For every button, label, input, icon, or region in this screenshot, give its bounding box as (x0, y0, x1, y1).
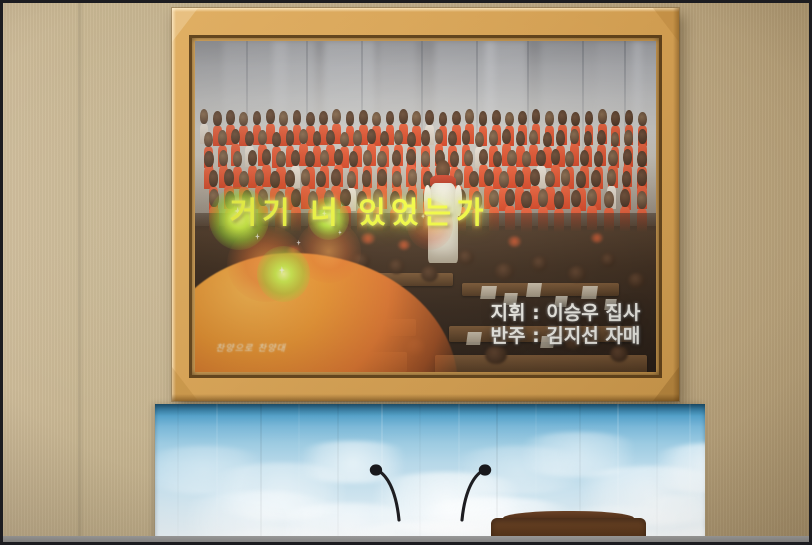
projection-screen: 거기 너 있었는가 지휘 : 이승우 집사 반주 : 김지선 자매 찬양으로 찬… (195, 41, 656, 372)
choir-member-head (346, 111, 355, 126)
choir-member-head (372, 112, 381, 127)
choir-member-head (530, 169, 540, 186)
choir-member-head (479, 111, 488, 126)
conductor-credit-line: 지휘 : 이승우 집사 (491, 302, 641, 326)
choir-member-head (392, 150, 401, 166)
seated-figure (389, 259, 405, 274)
sheet-music (480, 286, 497, 299)
accompanist-credit-line: 반주 : 김지선 자매 (491, 325, 641, 349)
banner-fold (216, 404, 218, 545)
choir-member-head (270, 171, 280, 188)
choir-member-head (266, 109, 275, 124)
choir-member-head (363, 150, 372, 166)
choir-member-head (248, 150, 257, 166)
choir-member-head (532, 109, 541, 124)
choir-member-head (377, 151, 386, 167)
choir-member-head (407, 132, 416, 147)
choir-member-head (233, 151, 242, 167)
banner-fold (689, 404, 691, 545)
choir-member-head (226, 110, 235, 125)
choir-member-head (204, 151, 213, 167)
choir-member-head (213, 111, 222, 126)
banner-fold (177, 404, 179, 545)
choir-member-head (637, 191, 647, 208)
choir-member-head (452, 111, 461, 126)
choir-member-head (637, 169, 647, 186)
choir-member-head (293, 110, 302, 125)
choir-member-head (598, 109, 607, 124)
choir-member-head (607, 169, 617, 186)
frame-left-highlight (172, 8, 176, 401)
choir-member-head (320, 150, 329, 166)
choir-member-head (331, 169, 341, 186)
choir-member-head (412, 111, 421, 126)
choir-member-head (408, 169, 418, 186)
choir-member-head (611, 132, 620, 147)
floor-strip (0, 536, 812, 545)
choir-member-head (218, 130, 227, 145)
choir-member-head (545, 111, 554, 126)
choir-member-head (349, 151, 358, 167)
choir-member-head (462, 130, 471, 145)
choir-member-head (399, 109, 408, 124)
choir-member-head (571, 190, 581, 207)
choir-member-head (536, 150, 545, 166)
choir-member-head (380, 131, 389, 146)
choir-member-head (570, 129, 579, 144)
choir-member-head (394, 130, 403, 145)
choir-member-head (313, 131, 322, 146)
choir-member-head (253, 111, 262, 126)
choir-member-head (556, 130, 565, 145)
choir-member-head (425, 110, 434, 125)
banner-top-shadow (155, 404, 705, 416)
choir-member-head (622, 171, 632, 188)
choir-member-head (551, 149, 560, 165)
choir-member-head (502, 129, 511, 144)
choir-member-head (340, 132, 349, 147)
choir-member-head (507, 150, 516, 166)
choir-member-head (421, 130, 430, 145)
choir-member-head (231, 129, 240, 144)
microphone-left (355, 463, 401, 521)
choir-member-head (604, 191, 614, 208)
choir-member-head (594, 151, 603, 167)
choir-member-head (489, 190, 499, 207)
wooden-picture-frame: 거기 너 있었는가 지휘 : 이승우 집사 반주 : 김지선 자매 찬양으로 찬… (172, 8, 679, 401)
choir-member-head (258, 130, 267, 145)
choir-member-head (565, 151, 574, 167)
choir-member-head (301, 169, 311, 186)
choir-member-head (299, 129, 308, 144)
choir-member-head (464, 150, 473, 166)
choir-member-head (347, 171, 357, 188)
choir-member-head (522, 151, 531, 167)
choir-member-head (515, 170, 525, 187)
banner-fold (419, 404, 421, 545)
banner-fold (656, 404, 658, 545)
choir-member-head (209, 170, 219, 187)
choir-member-head (479, 149, 488, 165)
choir-member-head (406, 149, 415, 165)
choir-member-head (276, 151, 285, 167)
choir-member-head (637, 151, 646, 167)
choir-member-head (585, 111, 594, 126)
choir-member-head (362, 170, 372, 187)
choir-member-head (624, 130, 633, 145)
choir-member-head (392, 171, 402, 188)
choir-member-head (571, 112, 580, 127)
sheet-music (581, 286, 598, 299)
choir-member-head (499, 171, 509, 188)
robe-highlight (361, 233, 375, 244)
choir-member-head (608, 150, 617, 166)
choir-member-head (435, 129, 444, 144)
seated-figure (628, 273, 645, 288)
choir-member-head (377, 169, 387, 186)
choir-member-head (200, 109, 209, 124)
banner-fold (337, 404, 339, 545)
choir-member-head (505, 112, 514, 127)
choir-member-head (638, 112, 647, 127)
choir-member-head (255, 169, 265, 186)
song-title-text: 거기 너 있었는가 (230, 188, 489, 232)
choir-member-head (521, 191, 531, 208)
choir-member-head (493, 151, 502, 167)
choir-member-head (529, 130, 538, 145)
choir-member-head (326, 130, 335, 145)
seated-figure (568, 266, 586, 282)
choir-member-head (204, 132, 213, 147)
seated-figure (601, 253, 616, 267)
choir-member-head (239, 112, 248, 127)
choir-member-head (638, 129, 647, 144)
choir-member-head (305, 151, 314, 167)
sky-cloud-banner (155, 404, 705, 545)
choir-member-head (538, 189, 548, 206)
choir-member-head (492, 110, 501, 125)
choir-member-head (576, 171, 586, 188)
choir-member-head (332, 109, 341, 124)
seated-figure (458, 250, 475, 265)
photograph-scene: 거기 너 있었는가 지휘 : 이승우 집사 반주 : 김지선 자매 찬양으로 찬… (0, 0, 812, 545)
choir-member-head (591, 170, 601, 187)
choir-member-head (279, 111, 288, 126)
choir-member-head (306, 112, 315, 127)
choir-member-head (597, 130, 606, 145)
choir-member-head (439, 112, 448, 127)
frame-bottom-shadow (172, 394, 679, 401)
choir-member-head (505, 189, 515, 206)
choir-member-head (620, 189, 630, 206)
seated-figure (495, 263, 514, 280)
choir-member-head (224, 169, 234, 186)
choir-member-head (587, 189, 597, 206)
choir-member-head (584, 131, 593, 146)
choir-member-head (623, 149, 632, 165)
choir-member-head (316, 171, 326, 188)
banner-fold (298, 404, 300, 545)
choir-member-head (448, 131, 457, 146)
choir-member-head (543, 132, 552, 147)
choir-member-head (239, 171, 249, 188)
seated-figure (532, 256, 548, 271)
choir-member-head (262, 149, 271, 165)
choir-member-head (359, 110, 368, 125)
choir-member-head (219, 150, 228, 166)
choir-member-head (465, 109, 474, 124)
choir-member-head (334, 149, 343, 165)
choir-member-head (580, 150, 589, 166)
choir-member-head (209, 189, 219, 206)
choir-member-head (554, 191, 564, 208)
sheet-music (526, 283, 542, 297)
choir-member-head (475, 132, 484, 147)
choir-member-head (469, 171, 479, 188)
choir-member-head (353, 130, 362, 145)
frame-top-highlight (172, 8, 679, 12)
choir-member-head (518, 111, 527, 126)
credits-block: 지휘 : 이승우 집사 반주 : 김지선 자매 (491, 302, 641, 349)
frame-miter-top-left (172, 8, 198, 42)
choir-member-head (545, 171, 555, 188)
banner-fold (260, 404, 262, 545)
choir-member-head (386, 111, 395, 126)
choir-member-head (516, 131, 525, 146)
choir-member-head (285, 170, 295, 187)
choir-member-head (291, 150, 300, 166)
choir-member-head (272, 132, 281, 147)
sheet-music (466, 332, 482, 345)
choir-member-head (489, 130, 498, 145)
choir-member-head (558, 110, 567, 125)
choir-member-head (245, 131, 254, 146)
choir-member-head (611, 111, 620, 126)
frame-right-shadow (673, 8, 679, 401)
choir-member-head (367, 129, 376, 144)
choir-member-head (625, 110, 634, 125)
choir-member-head (319, 111, 328, 126)
choir-member-head (286, 130, 295, 145)
choir-member-head (484, 169, 494, 186)
signature-script-text: 찬양으로 찬양대 (216, 341, 286, 354)
choir-member-head (561, 169, 571, 186)
frame-miter-top-right (653, 8, 679, 42)
robe-highlight (398, 240, 410, 250)
